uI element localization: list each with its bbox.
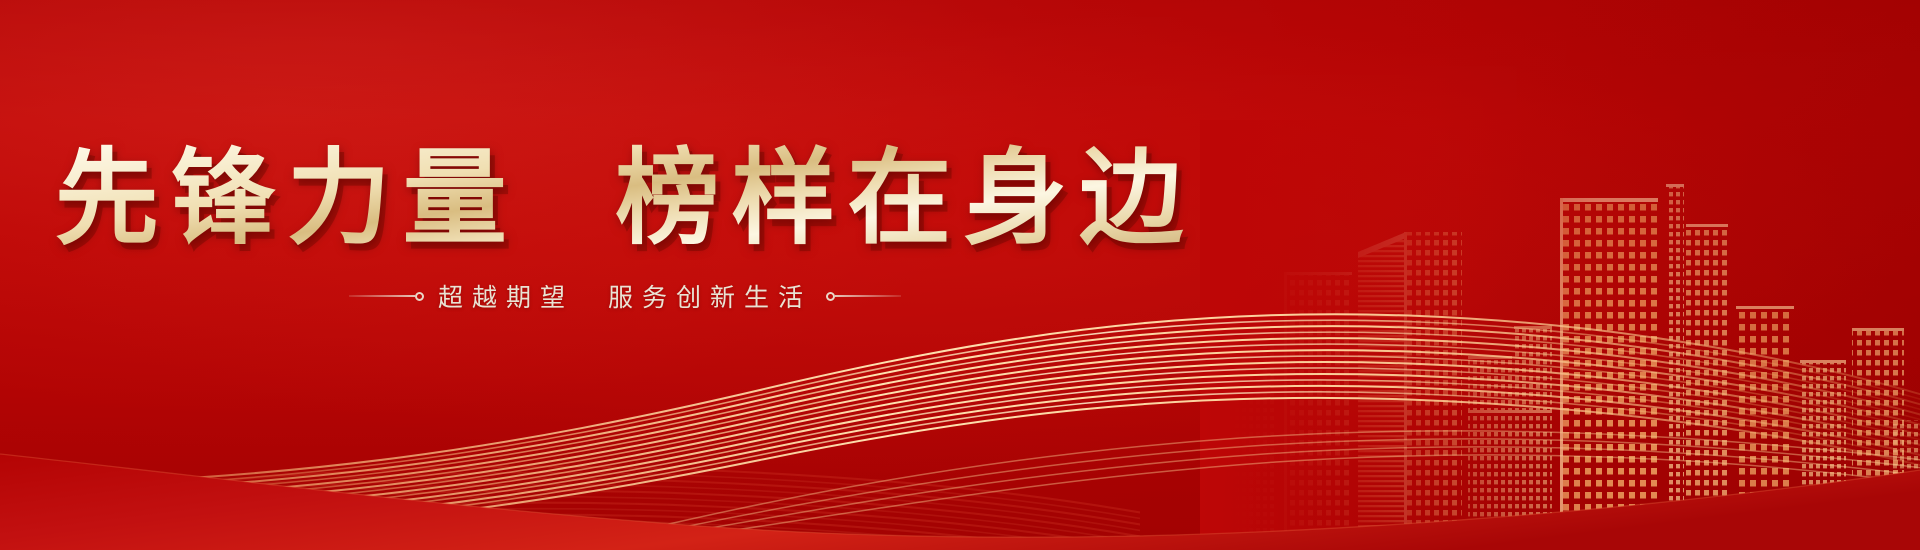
line-dot-ornament-right-icon (826, 292, 901, 301)
promo-banner: 先锋力量 榜样在身边 先锋力量 榜样在身边 超越期望 服务创新生活 (0, 0, 1920, 550)
headline-wrapper: 先锋力量 榜样在身边 先锋力量 榜样在身边 (55, 142, 1195, 254)
ornament-line-left (349, 295, 415, 297)
front-red-wave-graphic (0, 330, 1920, 550)
page-title: 先锋力量 榜样在身边 (55, 142, 1195, 254)
ornament-dot-left (415, 292, 424, 301)
ornament-dot-right (826, 292, 835, 301)
banner-content: 先锋力量 榜样在身边 先锋力量 榜样在身边 超越期望 服务创新生活 (0, 142, 1250, 314)
subtitle-row: 超越期望 服务创新生活 (0, 278, 1250, 314)
page-subtitle: 超越期望 服务创新生活 (438, 278, 812, 314)
ornament-line-right (835, 295, 901, 297)
line-dot-ornament-left-icon (349, 292, 424, 301)
